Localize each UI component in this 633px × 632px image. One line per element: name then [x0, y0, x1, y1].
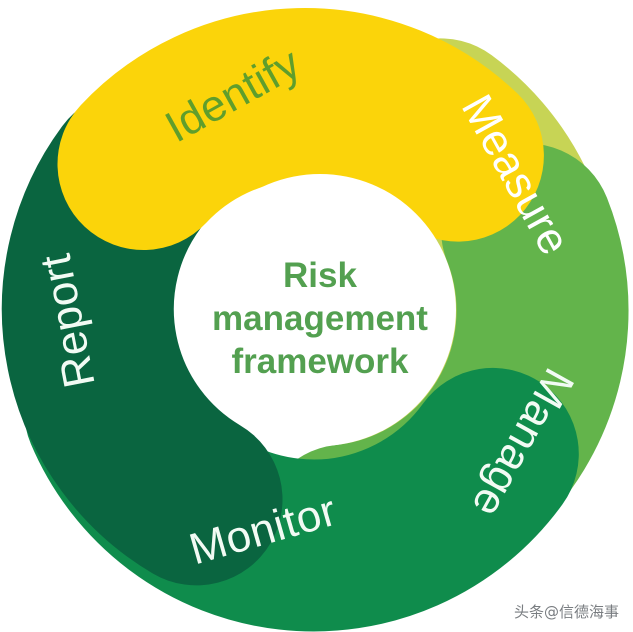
center-text-line-1: Risk — [283, 256, 357, 295]
risk-management-framework-diagram: Identify Measure Manage Monitor Report R… — [0, 0, 633, 632]
center-text-line-3: framework — [231, 342, 409, 381]
cycle-wheel: Identify Measure Manage Monitor Report R… — [0, 0, 633, 632]
center-text-line-2: management — [212, 299, 428, 338]
watermark: 头条@信德海事 — [514, 601, 619, 622]
watermark-text: 头条@信德海事 — [514, 601, 619, 622]
